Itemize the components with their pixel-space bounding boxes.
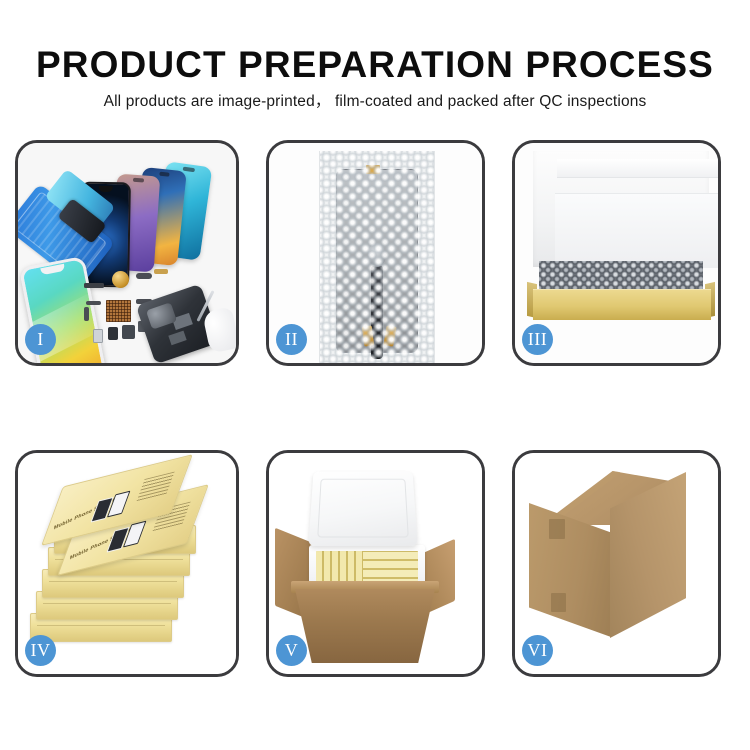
lid-inner-face (555, 193, 718, 268)
camera-module-part (108, 327, 118, 340)
step-2-illustration: II (269, 143, 482, 363)
process-step-card-2[interactable]: II (266, 140, 485, 366)
vibrator-part (122, 325, 135, 339)
flex-cable-part-c (86, 301, 101, 305)
lid-fold-crease (557, 159, 718, 178)
step-1-illustration: I (18, 143, 236, 363)
step-badge-2: II (276, 324, 307, 355)
step-badge-6: VI (522, 635, 553, 666)
step-badge-5: V (276, 635, 307, 666)
bubble-wrap-pouch (319, 151, 435, 363)
process-step-card-5[interactable]: V (266, 450, 485, 677)
styrofoam-lid-open (308, 472, 417, 547)
process-step-card-3[interactable]: III (512, 140, 721, 366)
box-tray-yellow-front (533, 289, 711, 320)
inner-box-lid-white (533, 151, 709, 267)
box-spec-lines-upper (137, 472, 175, 501)
process-step-card-1[interactable]: I (15, 140, 239, 366)
flex-cable-part-a (136, 273, 152, 279)
bubble-wrap-fill (539, 261, 703, 289)
step-6-illustration: VI (515, 453, 718, 674)
speaker-part-gold (112, 271, 129, 288)
step-badge-3: III (522, 324, 553, 355)
carton-tape-upper (549, 519, 565, 539)
step-badge-4: IV (25, 635, 56, 666)
step-3-illustration: III (515, 143, 718, 363)
step-4-illustration: Mobile Phone Spare Parts Mobile Phone Sp… (18, 453, 236, 674)
carton-tape-lower (551, 593, 566, 612)
retail-box-stack: Mobile Phone Spare Parts Mobile Phone Sp… (24, 467, 234, 667)
shipping-carton-body (295, 589, 435, 663)
antenna-strip-part (84, 283, 104, 288)
process-step-card-6[interactable]: VI (512, 450, 721, 677)
ic-chip-grid-part (106, 300, 131, 322)
process-step-card-4[interactable]: Mobile Phone Spare Parts Mobile Phone Sp… (15, 450, 239, 677)
battery-connector-part (93, 329, 103, 343)
process-step-grid: I II (0, 0, 750, 750)
bubble-wrap-texture (320, 151, 434, 363)
step-badge-1: I (25, 324, 56, 355)
flex-cable-part-d (84, 307, 89, 321)
flex-cable-part-b (154, 269, 168, 274)
step-5-illustration: V (269, 453, 482, 674)
